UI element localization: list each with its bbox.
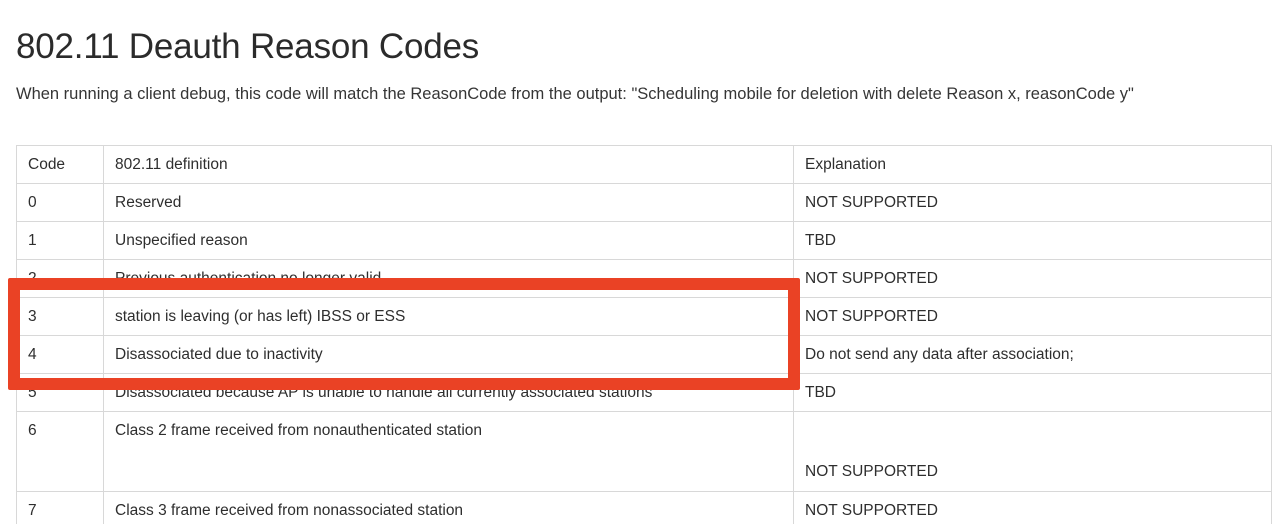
document-page: 802.11 Deauth Reason Codes When running …	[0, 0, 1288, 524]
table-row: 3station is leaving (or has left) IBSS o…	[17, 298, 1272, 336]
table-row: 2Previous authentication no longer valid…	[17, 260, 1272, 298]
intro-paragraph: When running a client debug, this code w…	[16, 81, 1231, 108]
cell-explanation: NOT SUPPORTED	[794, 412, 1272, 492]
column-header-code: Code	[17, 146, 104, 184]
cell-definition: Unspecified reason	[104, 222, 794, 260]
table-row: 4Disassociated due to inactivityDo not s…	[17, 336, 1272, 374]
reason-codes-table-wrapper: Code802.11 definitionExplanation0Reserve…	[16, 145, 1271, 524]
cell-explanation: NOT SUPPORTED	[794, 184, 1272, 222]
cell-definition: Class 3 frame received from nonassociate…	[104, 492, 794, 524]
cell-code: 2	[17, 260, 104, 298]
table-row: 5Disassociated because AP is unable to h…	[17, 374, 1272, 412]
table-row: 1Unspecified reasonTBD	[17, 222, 1272, 260]
column-header-definition: 802.11 definition	[104, 146, 794, 184]
cell-code: 1	[17, 222, 104, 260]
cell-definition: Class 2 frame received from nonauthentic…	[104, 412, 794, 492]
cell-definition: station is leaving (or has left) IBSS or…	[104, 298, 794, 336]
cell-explanation: TBD	[794, 374, 1272, 412]
cell-definition: Disassociated due to inactivity	[104, 336, 794, 374]
cell-explanation: NOT SUPPORTED	[794, 492, 1272, 524]
page-title: 802.11 Deauth Reason Codes	[16, 24, 479, 70]
cell-code: 3	[17, 298, 104, 336]
cell-code: 6	[17, 412, 104, 492]
table-row: 6Class 2 frame received from nonauthenti…	[17, 412, 1272, 492]
column-header-explanation: Explanation	[794, 146, 1272, 184]
cell-code: 4	[17, 336, 104, 374]
cell-code: 0	[17, 184, 104, 222]
cell-explanation: TBD	[794, 222, 1272, 260]
cell-explanation: NOT SUPPORTED	[794, 260, 1272, 298]
cell-explanation: NOT SUPPORTED	[794, 298, 1272, 336]
table-row: 0ReservedNOT SUPPORTED	[17, 184, 1272, 222]
cell-code: 7	[17, 492, 104, 524]
cell-definition: Previous authentication no longer valid	[104, 260, 794, 298]
table-header-row: Code802.11 definitionExplanation	[17, 146, 1272, 184]
table-row: 7Class 3 frame received from nonassociat…	[17, 492, 1272, 524]
cell-definition: Disassociated because AP is unable to ha…	[104, 374, 794, 412]
cell-definition: Reserved	[104, 184, 794, 222]
cell-code: 5	[17, 374, 104, 412]
reason-codes-table: Code802.11 definitionExplanation0Reserve…	[16, 145, 1272, 524]
cell-explanation: Do not send any data after association;	[794, 336, 1272, 374]
